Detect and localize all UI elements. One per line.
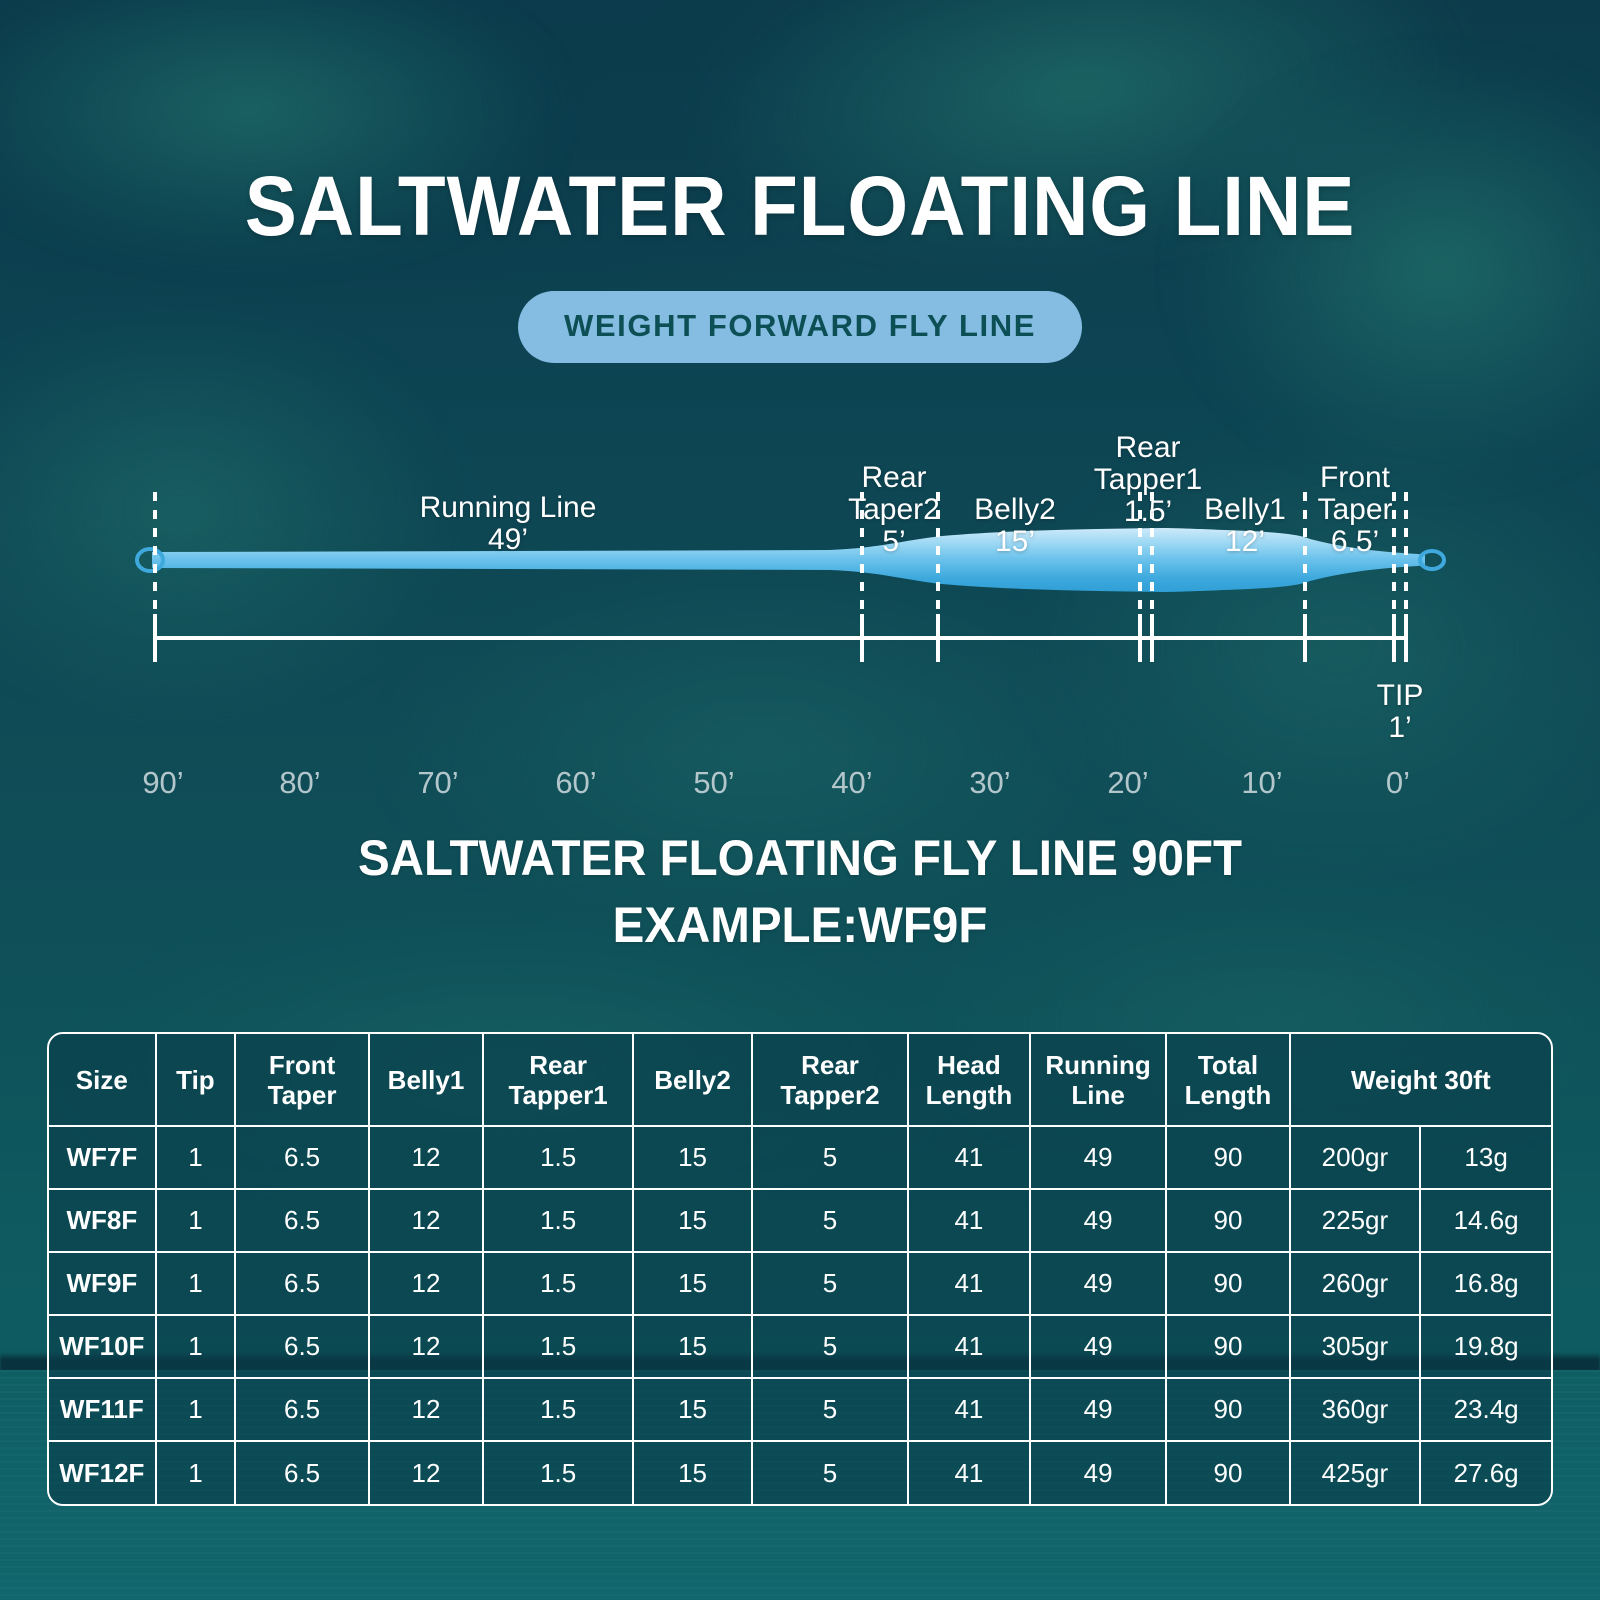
cell-belly1: 12	[369, 1126, 483, 1189]
cell-rear-tapper1: 1.5	[483, 1189, 633, 1252]
col-header-rear-tapper2: Rear Tapper2	[752, 1034, 908, 1126]
col-header-total-length: Total Length	[1166, 1034, 1289, 1126]
cell-total-length: 90	[1166, 1378, 1289, 1441]
segment-label-belly1: Belly1 12’	[1180, 462, 1310, 590]
fly-line-taper-diagram: Running Line 49’ Rear Taper2 5’ Belly2 1…	[0, 400, 1600, 730]
cell-running-line: 49	[1030, 1189, 1167, 1252]
cell-weight-grams: 14.6g	[1420, 1189, 1551, 1252]
cell-weight-grains: 200gr	[1290, 1126, 1421, 1189]
col-header-head-length: Head Length	[908, 1034, 1030, 1126]
segment-label-tip: TIP 1’	[1348, 648, 1452, 776]
col-header-front-taper: Front Taper	[235, 1034, 369, 1126]
cell-total-length: 90	[1166, 1441, 1289, 1504]
table-row: WF11F 1 6.5 12 1.5 15 5 41 49 90 360gr 2…	[49, 1378, 1551, 1441]
cell-tip: 1	[156, 1315, 236, 1378]
table-row: WF7F 1 6.5 12 1.5 15 5 41 49 90 200gr 13…	[49, 1126, 1551, 1189]
cell-tip: 1	[156, 1126, 236, 1189]
cell-front-taper: 6.5	[235, 1378, 369, 1441]
cell-rear-tapper2: 5	[752, 1315, 908, 1378]
ruler-tick-90: 90’	[142, 765, 183, 801]
col-header-rear-tapper1: Rear Tapper1	[483, 1034, 633, 1126]
segment-label-rear-taper2: Rear Taper2 5’	[838, 430, 950, 590]
col-header-tip: Tip	[156, 1034, 236, 1126]
cell-rear-tapper1: 1.5	[483, 1378, 633, 1441]
segment-label-running-line: Running Line 49’	[408, 460, 608, 588]
cell-belly1: 12	[369, 1315, 483, 1378]
cell-weight-grams: 16.8g	[1420, 1252, 1551, 1315]
cell-rear-tapper2: 5	[752, 1189, 908, 1252]
cell-belly1: 12	[369, 1189, 483, 1252]
segment-label-belly2: Belly2 15’	[950, 462, 1080, 590]
cell-weight-grams: 23.4g	[1420, 1378, 1551, 1441]
cell-running-line: 49	[1030, 1441, 1167, 1504]
col-header-size: Size	[49, 1034, 156, 1126]
cell-head-length: 41	[908, 1126, 1030, 1189]
ruler-tick-60: 60’	[555, 765, 596, 801]
cell-head-length: 41	[908, 1252, 1030, 1315]
table-body: WF7F 1 6.5 12 1.5 15 5 41 49 90 200gr 13…	[49, 1126, 1551, 1504]
cell-total-length: 90	[1166, 1126, 1289, 1189]
cell-belly2: 15	[633, 1126, 752, 1189]
ruler-tick-30: 30’	[969, 765, 1010, 801]
cell-weight-grains: 260gr	[1290, 1252, 1421, 1315]
cell-belly2: 15	[633, 1441, 752, 1504]
cell-tip: 1	[156, 1441, 236, 1504]
cell-tip: 1	[156, 1189, 236, 1252]
cell-size: WF12F	[49, 1441, 156, 1504]
col-header-belly1: Belly1	[369, 1034, 483, 1126]
cell-running-line: 49	[1030, 1252, 1167, 1315]
cell-belly2: 15	[633, 1252, 752, 1315]
cell-weight-grams: 27.6g	[1420, 1441, 1551, 1504]
cell-weight-grains: 225gr	[1290, 1189, 1421, 1252]
cell-running-line: 49	[1030, 1126, 1167, 1189]
cell-total-length: 90	[1166, 1252, 1289, 1315]
cell-size: WF10F	[49, 1315, 156, 1378]
cell-front-taper: 6.5	[235, 1126, 369, 1189]
cell-size: WF9F	[49, 1252, 156, 1315]
cell-total-length: 90	[1166, 1189, 1289, 1252]
ruler-tick-50: 50’	[693, 765, 734, 801]
cell-belly1: 12	[369, 1252, 483, 1315]
cell-belly2: 15	[633, 1315, 752, 1378]
table-row: WF10F 1 6.5 12 1.5 15 5 41 49 90 305gr 1…	[49, 1315, 1551, 1378]
cell-rear-tapper2: 5	[752, 1441, 908, 1504]
segment-label-front-taper: Front Taper 6.5’	[1298, 430, 1412, 590]
cell-rear-tapper2: 5	[752, 1252, 908, 1315]
cell-front-taper: 6.5	[235, 1252, 369, 1315]
ruler-tick-70: 70’	[417, 765, 458, 801]
ruler-tick-80: 80’	[279, 765, 320, 801]
cell-belly1: 12	[369, 1378, 483, 1441]
cell-rear-tapper1: 1.5	[483, 1126, 633, 1189]
table-row: WF9F 1 6.5 12 1.5 15 5 41 49 90 260gr 16…	[49, 1252, 1551, 1315]
cell-weight-grams: 19.8g	[1420, 1315, 1551, 1378]
cell-rear-tapper2: 5	[752, 1126, 908, 1189]
cell-size: WF8F	[49, 1189, 156, 1252]
cell-front-taper: 6.5	[235, 1189, 369, 1252]
cell-rear-tapper2: 5	[752, 1378, 908, 1441]
cell-rear-tapper1: 1.5	[483, 1441, 633, 1504]
cell-weight-grams: 13g	[1420, 1126, 1551, 1189]
cell-belly2: 15	[633, 1378, 752, 1441]
cell-head-length: 41	[908, 1378, 1030, 1441]
cell-tip: 1	[156, 1378, 236, 1441]
page-title: SALTWATER FLOATING LINE	[56, 158, 1544, 255]
col-header-belly2: Belly2	[633, 1034, 752, 1126]
badge-weight-forward: WEIGHT FORWARD FLY LINE	[518, 291, 1082, 363]
cell-running-line: 49	[1030, 1315, 1167, 1378]
col-header-running-line: Running Line	[1030, 1034, 1167, 1126]
cell-tip: 1	[156, 1252, 236, 1315]
cell-total-length: 90	[1166, 1315, 1289, 1378]
cell-running-line: 49	[1030, 1378, 1167, 1441]
cell-weight-grains: 425gr	[1290, 1441, 1421, 1504]
subtitle-line-2: EXAMPLE:WF9F	[40, 894, 1560, 956]
cell-rear-tapper1: 1.5	[483, 1252, 633, 1315]
cell-front-taper: 6.5	[235, 1441, 369, 1504]
table-row: WF12F 1 6.5 12 1.5 15 5 41 49 90 425gr 2…	[49, 1441, 1551, 1504]
cell-size: WF11F	[49, 1378, 156, 1441]
cell-front-taper: 6.5	[235, 1315, 369, 1378]
cell-weight-grains: 360gr	[1290, 1378, 1421, 1441]
col-header-weight-30ft: Weight 30ft	[1290, 1034, 1551, 1126]
subtitle-line-1: SALTWATER FLOATING FLY LINE 90FT	[40, 827, 1560, 889]
cell-head-length: 41	[908, 1441, 1030, 1504]
cell-belly2: 15	[633, 1189, 752, 1252]
specification-table: Size Tip Front Taper Belly1 Rear Tapper1…	[47, 1032, 1553, 1506]
cell-size: WF7F	[49, 1126, 156, 1189]
ruler-tick-40: 40’	[831, 765, 872, 801]
cell-belly1: 12	[369, 1441, 483, 1504]
table-header-row: Size Tip Front Taper Belly1 Rear Tapper1…	[49, 1034, 1551, 1126]
cell-weight-grains: 305gr	[1290, 1315, 1421, 1378]
cell-head-length: 41	[908, 1189, 1030, 1252]
ruler-tick-10: 10’	[1241, 765, 1282, 801]
cell-rear-tapper1: 1.5	[483, 1315, 633, 1378]
ruler-tick-20: 20’	[1107, 765, 1148, 801]
ruler-tick-0: 0’	[1386, 765, 1410, 801]
table-row: WF8F 1 6.5 12 1.5 15 5 41 49 90 225gr 14…	[49, 1189, 1551, 1252]
cell-head-length: 41	[908, 1315, 1030, 1378]
distance-ruler-labels: 90’ 80’ 70’ 60’ 50’ 40’ 30’ 20’ 10’ 0’	[0, 765, 1600, 813]
